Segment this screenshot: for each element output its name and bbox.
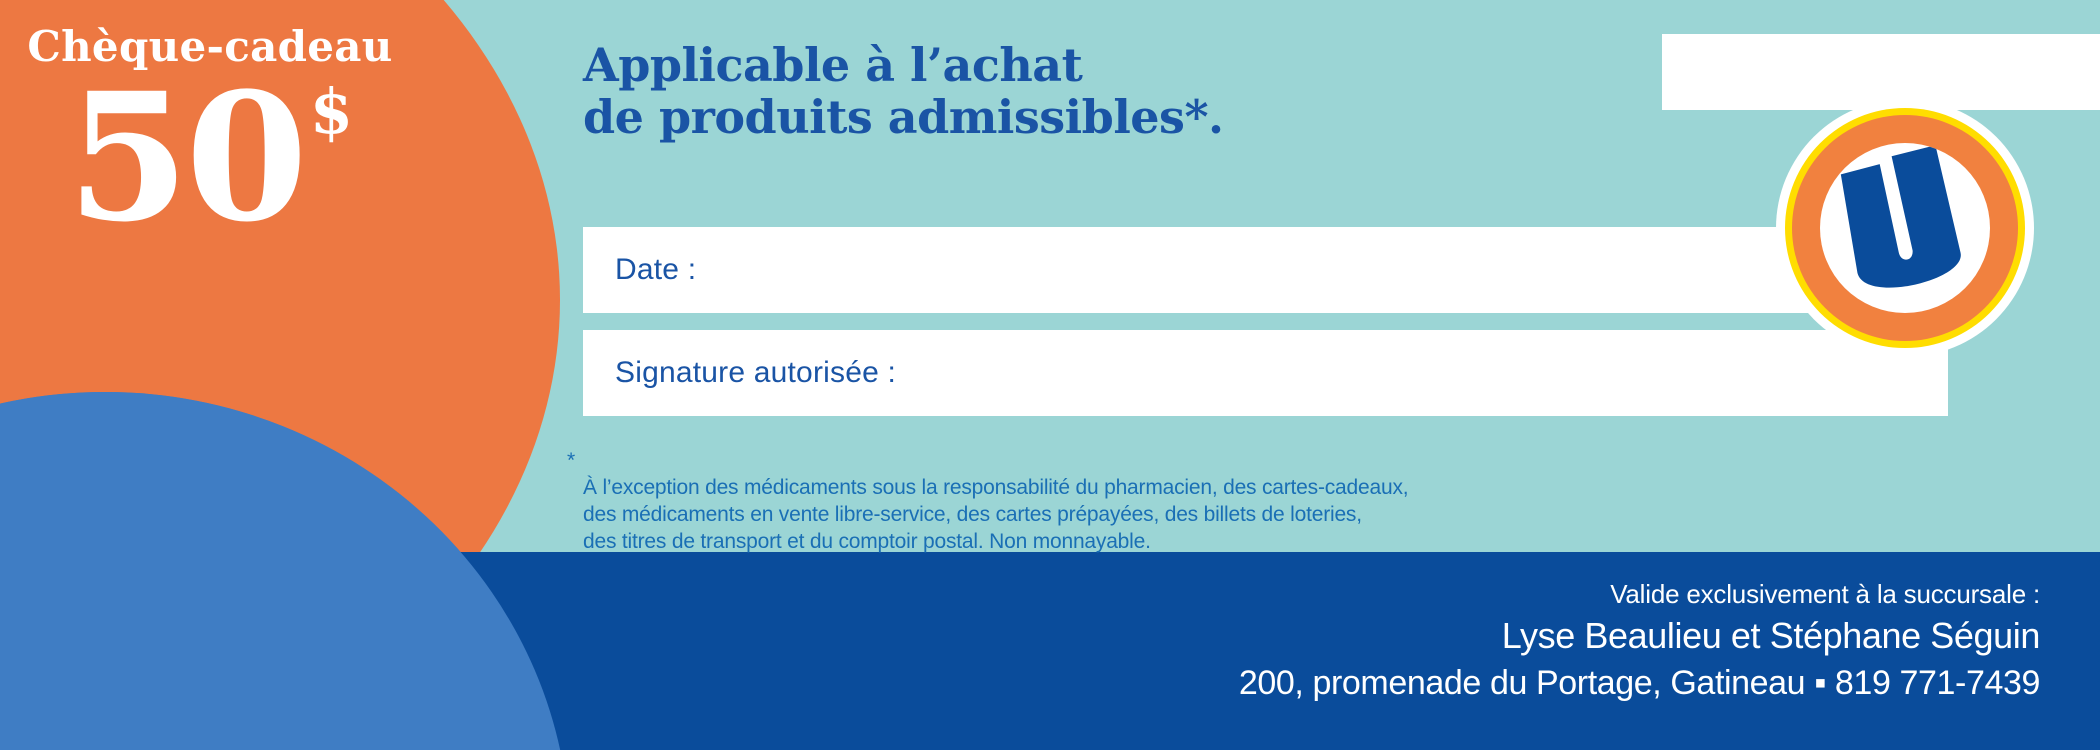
serial-number-box[interactable] — [1662, 34, 2100, 110]
store-address-phone: 200, promenade du Portage, Gatineau ▪ 81… — [1239, 661, 2040, 705]
validity-label: Valide exclusivement à la succursale : — [1239, 578, 2040, 611]
logo-inner-disc — [1820, 143, 1990, 313]
disclaimer-text: *À l’exception des médicaments sous la r… — [583, 448, 1683, 556]
asterisk-marker: * — [567, 448, 575, 475]
amount-currency: $ — [310, 75, 353, 148]
gift-certificate: Chèque-cadeau 50$ Applicable à l’achat d… — [0, 0, 2100, 750]
store-information: Valide exclusivement à la succursale : L… — [1239, 578, 2040, 705]
logo-u-letter-icon — [1820, 143, 1990, 313]
date-field-label: Date : — [615, 253, 696, 287]
uniprix-logo-icon — [1776, 99, 2034, 357]
store-owners: Lyse Beaulieu et Stéphane Séguin — [1239, 613, 2040, 660]
amount-value: 50 — [67, 54, 304, 261]
date-field[interactable]: Date : — [583, 227, 1948, 313]
signature-field[interactable]: Signature autorisée : — [583, 330, 1948, 416]
disclaimer-body: À l’exception des médicaments sous la re… — [583, 476, 1408, 553]
denomination-panel: Chèque-cadeau 50$ — [0, 0, 420, 420]
amount-row: 50$ — [0, 70, 420, 246]
signature-field-label: Signature autorisée : — [615, 356, 896, 390]
